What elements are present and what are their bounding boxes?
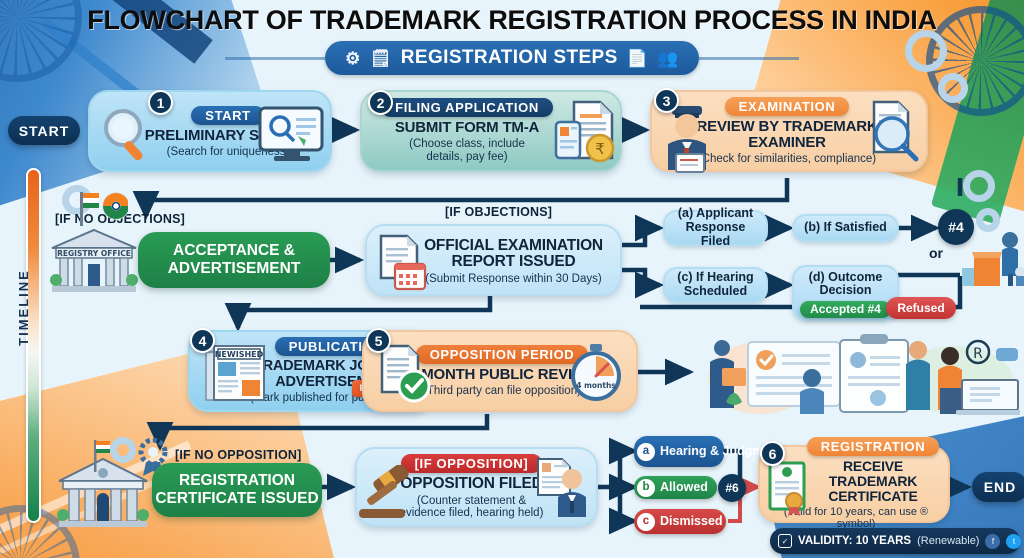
step-3-examination[interactable]: 3 EXAMINATION REVIEW BY TRADEMARK EXAMIN… bbox=[650, 90, 928, 172]
validity-footer: VALIDITY: 10 YEARS (Renewable) f t ◎ bbox=[770, 528, 1020, 554]
outcome-refused-chip[interactable]: Refused bbox=[886, 297, 956, 319]
branch-label-objections: [IF OBJECTIONS] bbox=[445, 205, 552, 219]
opposition-outcome-b[interactable]: b Allowed bbox=[634, 476, 717, 499]
banner-line-right bbox=[699, 57, 799, 60]
or-label: or bbox=[929, 245, 943, 261]
outcome-accepted-chip[interactable]: Accepted #4 bbox=[800, 301, 891, 318]
edit-document-icon: 🗒 bbox=[370, 50, 392, 67]
branch-label-no-opposition: [IF NO OPPOSITION] bbox=[175, 448, 302, 462]
step-2-filing-application[interactable]: 2 ₹ FILING APPLICATION SUBMIT FORM TM-A … bbox=[360, 90, 622, 172]
outcome-c-label: Dismissed bbox=[660, 515, 723, 528]
step-6-registration[interactable]: 6 REGISTRATION RECEIVE TRADEMARK CERTIFI… bbox=[758, 445, 950, 523]
gear-icon bbox=[963, 170, 995, 202]
step-2-subtitle: (Choose class, include details, pay fee) bbox=[390, 138, 545, 163]
gear-icon bbox=[938, 73, 968, 103]
validity-renewable: (Renewable) bbox=[917, 535, 979, 547]
document-magnifier-icon bbox=[862, 98, 922, 164]
step-number-badge: 4 bbox=[190, 328, 215, 353]
goto-step-6-badge[interactable]: #6 bbox=[718, 474, 746, 502]
registry-office-building-icon: REGISTRY OFFICE bbox=[48, 228, 140, 298]
examination-report-subtitle: (Submit Response within 30 Days) bbox=[413, 273, 614, 286]
node-opposition-filed[interactable]: [IF OPPOSITION] OPPOSITION FILED (Counte… bbox=[355, 447, 598, 527]
step-5-opposition-period[interactable]: 5 4 months OPPOSITION PERIOD 4-MONTH PUB… bbox=[362, 330, 638, 412]
document-check-icon bbox=[378, 344, 436, 406]
timeline-label: TIMELINE bbox=[16, 269, 31, 346]
facebook-icon[interactable]: f bbox=[985, 534, 1000, 549]
registration-steps-pill: ⚙ 🗒 REGISTRATION STEPS 📄 👥 bbox=[325, 41, 699, 75]
document-icon: ₹ bbox=[554, 98, 616, 164]
speaker-podium-icon bbox=[958, 228, 1024, 290]
person-document-icon bbox=[530, 457, 592, 519]
magnifier-icon bbox=[96, 104, 158, 166]
step-2-title: SUBMIT FORM TM-A bbox=[381, 120, 553, 136]
svg-text:REGISTRY OFFICE: REGISTRY OFFICE bbox=[57, 249, 131, 258]
objection-item-c-label: If Hearing Scheduled bbox=[684, 270, 754, 298]
twitter-icon[interactable]: t bbox=[1006, 534, 1021, 549]
objection-item-b-key: (b) bbox=[804, 220, 820, 234]
stopwatch-label: 4 months bbox=[576, 381, 616, 390]
gear-icon: ⚙ bbox=[345, 50, 361, 67]
end-button[interactable]: END bbox=[972, 472, 1024, 502]
step-6-tag: REGISTRATION bbox=[807, 437, 939, 456]
step-number-badge: 2 bbox=[368, 90, 393, 115]
opposition-tag: [IF OPPOSITION] bbox=[401, 454, 543, 473]
page-title: FLOWCHART OF TRADEMARK REGISTRATION PROC… bbox=[0, 5, 1024, 36]
step-1-preliminary-search[interactable]: 1 START PRELIMINARY SEARCH (Search for u… bbox=[88, 90, 332, 172]
objection-item-c[interactable]: (c) If Hearing Scheduled bbox=[663, 267, 768, 303]
objection-item-d[interactable]: (d) Outcome Decision Accepted #4 bbox=[792, 265, 899, 321]
outcome-b-key: b bbox=[637, 479, 655, 497]
step-2-tag: FILING APPLICATION bbox=[381, 98, 553, 117]
opposition-outcome-c[interactable]: c Dismissed bbox=[634, 509, 726, 534]
document-icon: 📄 bbox=[627, 50, 649, 67]
svg-text:NEWISHED: NEWISHED bbox=[215, 350, 264, 359]
registration-steps-label: REGISTRATION STEPS bbox=[401, 47, 618, 69]
objection-item-a[interactable]: (a) Applicant Response Filed bbox=[663, 210, 768, 246]
monitor-search-icon bbox=[256, 106, 326, 164]
start-button[interactable]: START bbox=[8, 116, 80, 145]
node-registration-certificate-issued[interactable]: REGISTRATION CERTIFICATE ISSUED bbox=[152, 463, 322, 517]
step-3-title: REVIEW BY TRADEMARK EXAMINER bbox=[695, 119, 880, 151]
outcome-c-key: c bbox=[637, 513, 655, 531]
india-flag-icon bbox=[78, 190, 128, 228]
objection-item-a-key: (a) bbox=[678, 206, 693, 220]
document-calendar-icon bbox=[373, 234, 431, 292]
outcome-b-label: Allowed bbox=[660, 481, 708, 494]
outcome-a-key: a bbox=[637, 443, 655, 461]
objection-item-b-label: If Satisfied bbox=[824, 220, 887, 234]
objection-item-a-label: Applicant Response Filed bbox=[686, 206, 754, 248]
newspaper-icon: NEWISHED bbox=[204, 344, 266, 406]
node-official-examination-report[interactable]: OFFICIAL EXAMINATION REPORT ISSUED (Subm… bbox=[365, 224, 622, 296]
registration-steps-banner: ⚙ 🗒 REGISTRATION STEPS 📄 👥 bbox=[0, 41, 1024, 75]
node-acceptance-advertisement[interactable]: ACCEPTANCE & ADVERTISEMENT bbox=[138, 232, 330, 288]
calendar-check-icon bbox=[778, 534, 792, 548]
step-6-title: RECEIVE TRADEMARK CERTIFICATE bbox=[800, 459, 946, 504]
banner-line-left bbox=[225, 57, 325, 60]
objection-item-d-key: (d) bbox=[809, 270, 825, 284]
step-1-tag: START bbox=[191, 106, 264, 125]
stopwatch-icon: 4 months bbox=[568, 344, 626, 402]
step-3-tag: EXAMINATION bbox=[725, 97, 850, 116]
step-3-subtitle: (Check for similarities, compliance) bbox=[695, 153, 880, 166]
objection-item-c-key: (c) bbox=[677, 270, 692, 284]
validity-text: VALIDITY: 10 YEARS bbox=[798, 535, 911, 547]
india-flag-small-icon bbox=[92, 438, 120, 472]
people-group-icon: 👥 bbox=[657, 50, 679, 67]
svg-text:₹: ₹ bbox=[595, 140, 605, 158]
public-review-illustration: R bbox=[700, 332, 1020, 424]
step-number-badge: 1 bbox=[148, 90, 173, 115]
opposition-outcome-a[interactable]: a Hearing & Judgment bbox=[634, 436, 724, 467]
step-number-badge: 6 bbox=[760, 441, 785, 466]
infographic-canvas: FLOWCHART OF TRADEMARK REGISTRATION PROC… bbox=[0, 0, 1024, 558]
svg-text:R: R bbox=[973, 346, 983, 362]
certificate-icon bbox=[766, 461, 812, 517]
objection-item-d-label: Outcome Decision bbox=[819, 270, 882, 298]
objection-item-b[interactable]: (b) If Satisfied bbox=[792, 214, 899, 242]
step-number-badge: 5 bbox=[366, 328, 391, 353]
step-number-badge: 3 bbox=[654, 88, 679, 113]
step-5-tag: OPPOSITION PERIOD bbox=[416, 345, 589, 364]
gavel-icon bbox=[359, 465, 421, 523]
examination-report-title: OFFICIAL EXAMINATION REPORT ISSUED bbox=[413, 238, 614, 271]
